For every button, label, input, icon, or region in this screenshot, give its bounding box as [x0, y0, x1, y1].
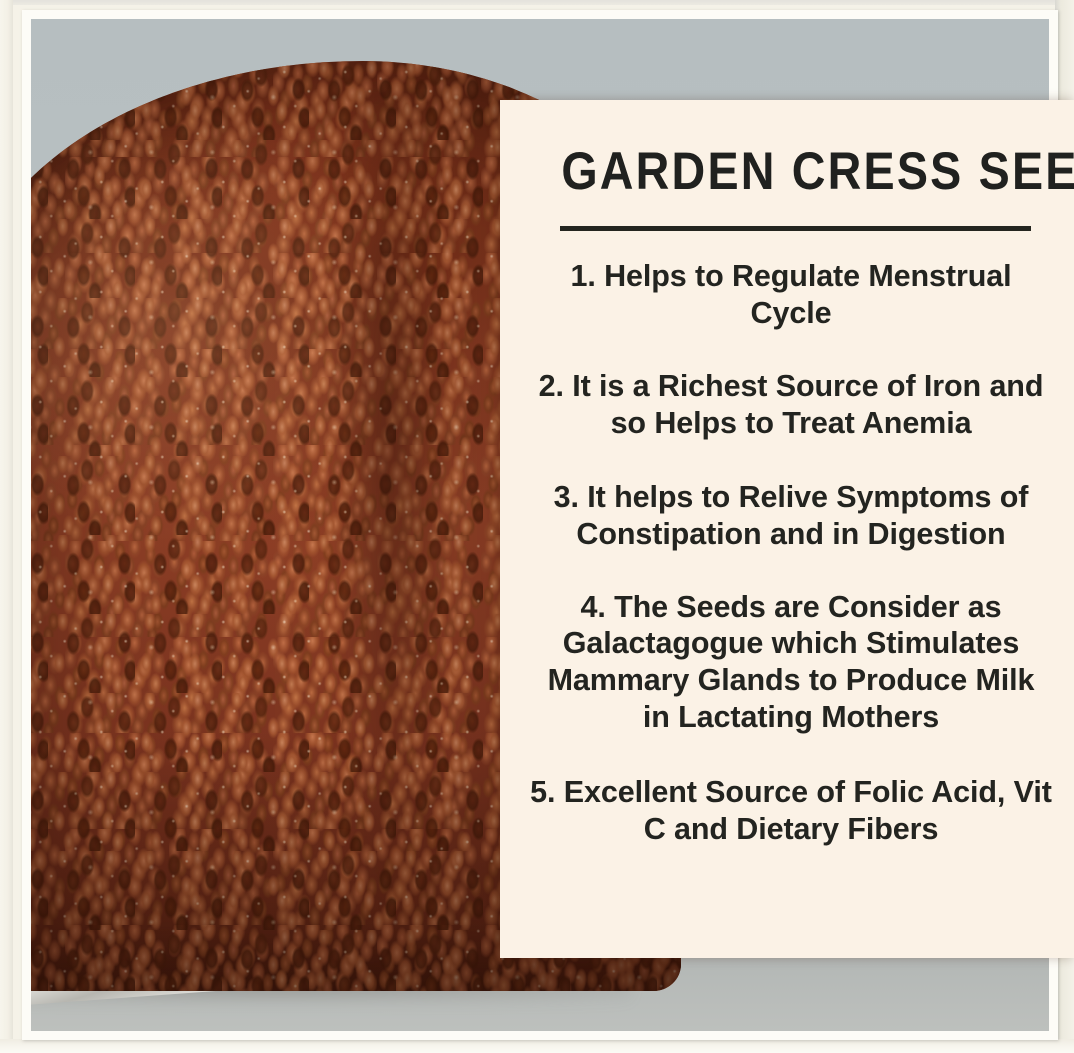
list-item: 5. Excellent Source of Folic Acid, Vit C… [530, 774, 1052, 848]
poster-left-edge-band [0, 0, 13, 1053]
seed-pile-crevasse-shadow [331, 89, 451, 909]
poster-top-edge-band [0, 0, 1074, 5]
list-item: 1. Helps to Regulate Menstrual Cycle [530, 258, 1052, 332]
list-item: 4. The Seeds are Consider as Galactagogu… [530, 589, 1052, 737]
page-title: GARDEN CRESS SEED [561, 144, 1020, 200]
poster-bottom-edge-band [0, 1039, 1074, 1053]
benefit-list: 1. Helps to Regulate Menstrual Cycle 2. … [530, 258, 1052, 848]
list-item: 3. It helps to Relive Symptoms of Consti… [530, 479, 1052, 553]
list-item: 2. It is a Richest Source of Iron and so… [530, 368, 1052, 442]
infographic-poster: GARDEN CRESS SEED 1. Helps to Regulate M… [0, 0, 1074, 1053]
title-divider [560, 226, 1031, 231]
info-card: GARDEN CRESS SEED 1. Helps to Regulate M… [500, 100, 1074, 958]
